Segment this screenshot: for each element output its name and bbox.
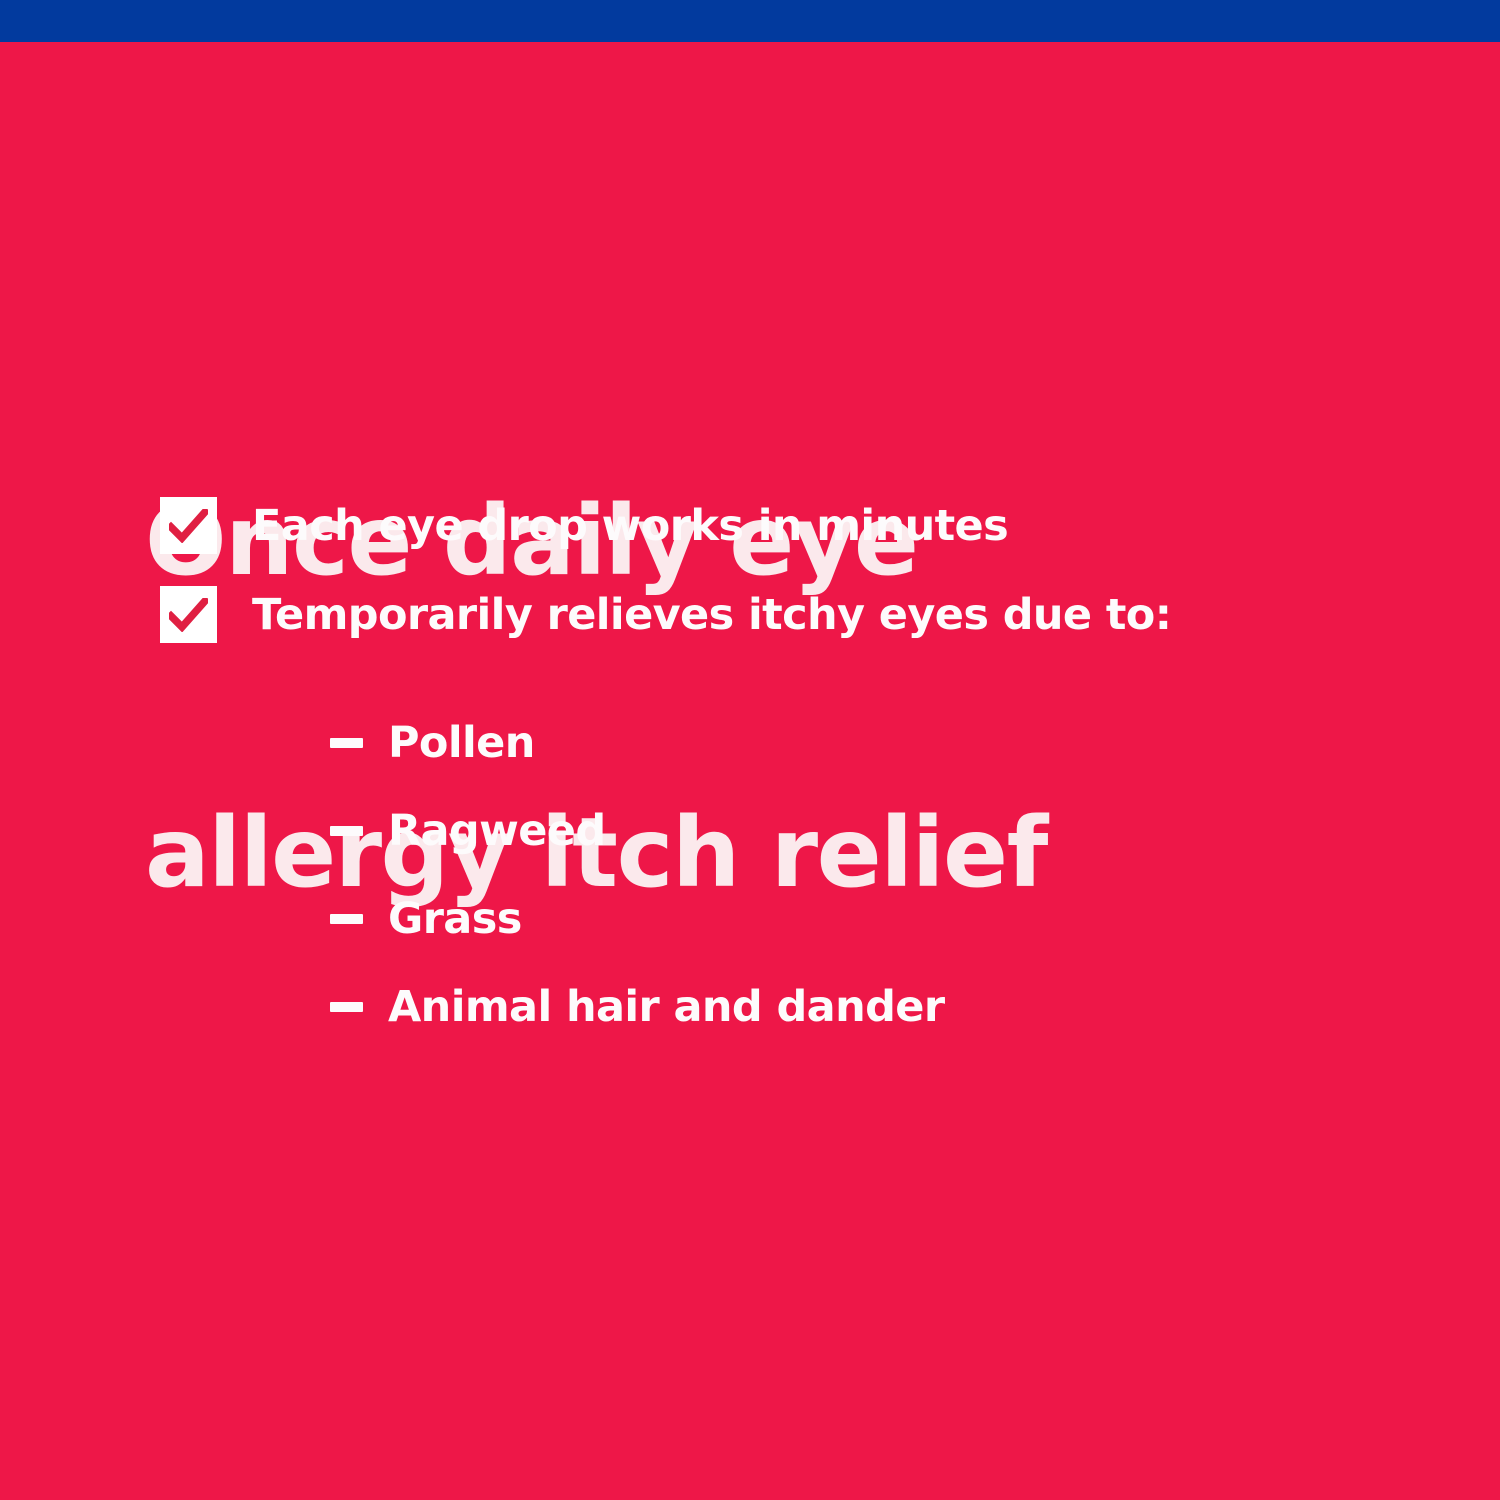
list-item-label: Pollen bbox=[388, 718, 535, 768]
list-item: Pollen bbox=[330, 714, 1430, 772]
dash-icon bbox=[330, 914, 363, 924]
benefits-list: Each eye drop works in minutes Temporari… bbox=[160, 497, 1360, 675]
dash-icon bbox=[330, 738, 363, 748]
checkbox-checked-icon bbox=[160, 586, 217, 643]
list-item-label: Animal hair and dander bbox=[388, 982, 944, 1032]
list-item-label: Grass bbox=[388, 894, 522, 944]
list-item: Grass bbox=[330, 890, 1430, 948]
list-item-label: Each eye drop works in minutes bbox=[252, 501, 1008, 551]
list-item: Each eye drop works in minutes bbox=[160, 497, 1360, 554]
dash-icon bbox=[330, 826, 363, 836]
top-brand-bar bbox=[0, 0, 1500, 42]
list-item: Temporarily relieves itchy eyes due to: bbox=[160, 586, 1360, 643]
list-item: Ragweed bbox=[330, 802, 1430, 860]
dash-icon bbox=[330, 1002, 363, 1012]
list-item: Animal hair and dander bbox=[330, 978, 1430, 1036]
product-info-panel: Once daily eye allergy itch relief Each … bbox=[0, 0, 1500, 1500]
list-item-label: Temporarily relieves itchy eyes due to: bbox=[252, 590, 1171, 640]
checkbox-checked-icon bbox=[160, 497, 217, 554]
list-item-label: Ragweed bbox=[388, 806, 606, 856]
allergen-list: Pollen Ragweed Grass Animal hair and dan… bbox=[330, 714, 1430, 1066]
